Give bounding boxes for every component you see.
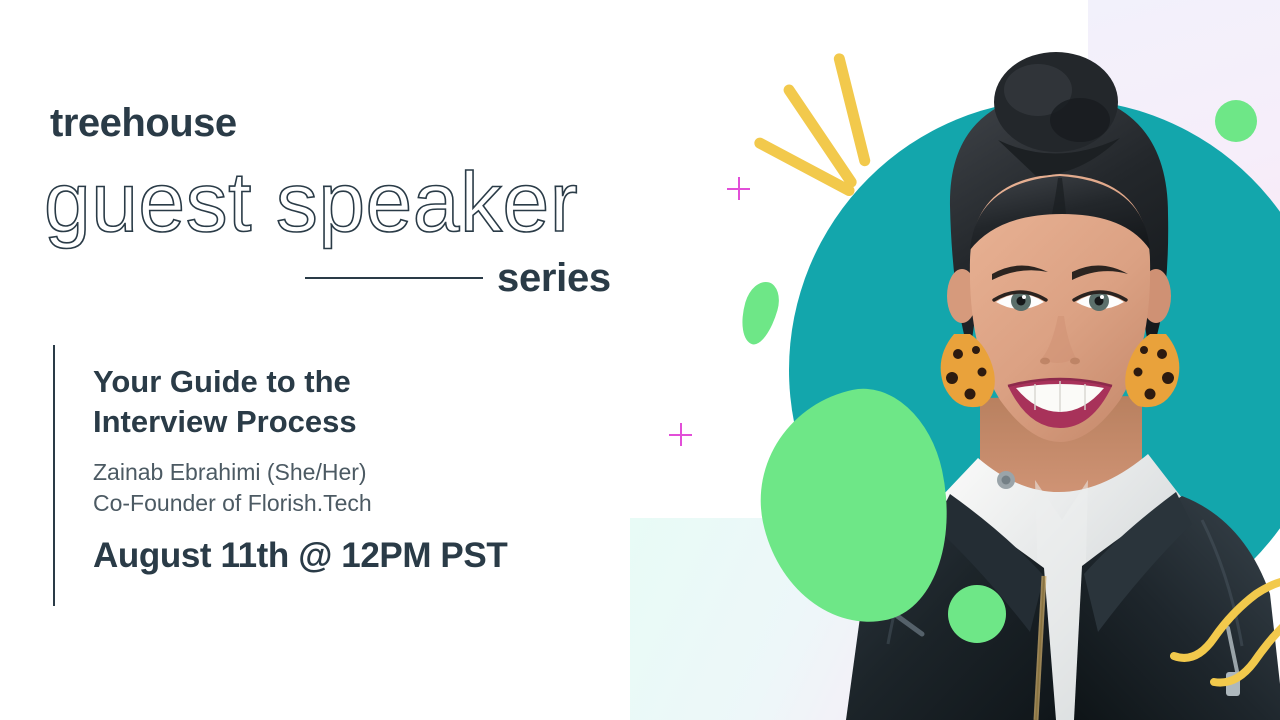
green-dot-top-shape [1215, 100, 1257, 142]
talk-title-line-1: Your Guide to the [93, 364, 351, 399]
magenta-plus-upper-icon [727, 177, 750, 200]
talk-title: Your Guide to the Interview Process [93, 362, 433, 441]
series-row: series [305, 258, 625, 298]
talk-title-line-2: Interview Process [93, 404, 357, 439]
green-bean-shape [735, 278, 784, 349]
yellow-wavy-lines [1170, 578, 1280, 688]
event-detail-block: Your Guide to the Interview Process Zain… [53, 345, 507, 606]
event-datetime: August 11th @ 12PM PST [93, 536, 507, 576]
speaker-name: Zainab Ebrahimi (She/Her) [93, 457, 507, 488]
brand-wordmark: treehouse [50, 103, 237, 143]
series-label: series [497, 258, 611, 298]
promo-slide: treehouse guest speaker series Your Guid… [0, 0, 1280, 720]
magenta-plus-lower-icon [669, 423, 692, 446]
series-rule [305, 277, 483, 279]
headline-outline-text: guest speaker [44, 160, 578, 244]
green-dot-bottom-shape [948, 585, 1006, 643]
speaker-role: Co-Founder of Florish.Tech [93, 488, 507, 519]
